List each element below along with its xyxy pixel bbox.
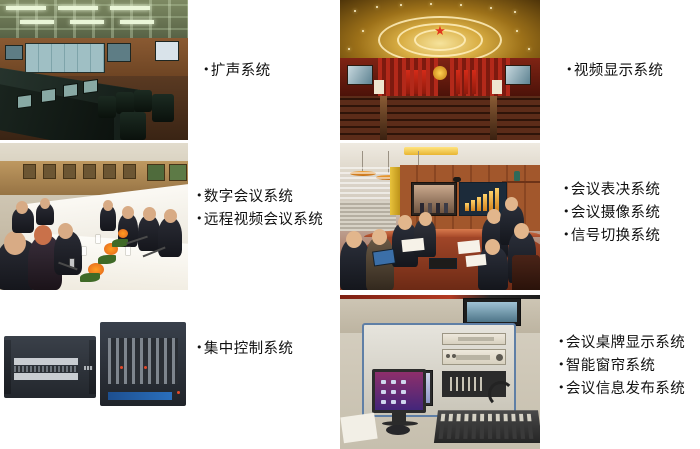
caption-line: 会议表决系统 xyxy=(563,178,660,201)
mouse[interactable] xyxy=(386,425,410,435)
caption-line: 智能窗帘系统 xyxy=(558,354,685,377)
paper-documents xyxy=(340,413,377,443)
ceiling-light-rings: ★ xyxy=(340,0,540,62)
audio-mixing-console[interactable] xyxy=(434,410,540,443)
video-wall-screen xyxy=(26,44,104,72)
slide-canvas: ★ xyxy=(0,0,700,449)
image-matrix-switcher-hardware xyxy=(0,300,188,410)
caption-video-display: 视频显示系统 xyxy=(566,59,663,82)
star-emblem: ★ xyxy=(434,24,446,39)
caption-central-control: 集中控制系统 xyxy=(196,337,293,360)
wall-monitor xyxy=(108,44,130,61)
data-presentation-display xyxy=(460,183,506,215)
wall-monitor xyxy=(6,46,22,59)
caption-table-nameplate-curtain-info: 会议桌牌显示系统 智能窗帘系统 会议信息发布系统 xyxy=(558,331,685,400)
caption-digital-conference: 数字会议系统 远程视频会议系统 xyxy=(196,185,323,231)
caption-line: 视频显示系统 xyxy=(566,59,663,82)
touch-panel-controller[interactable] xyxy=(372,369,426,413)
wall-mounted-tv xyxy=(464,299,520,325)
caption-line: 集中控制系统 xyxy=(196,337,293,360)
caption-line: 远程视频会议系统 xyxy=(196,208,323,231)
image-av-control-console xyxy=(340,295,540,449)
window-blind xyxy=(340,201,396,231)
caption-line: 扩声系统 xyxy=(203,59,271,82)
caption-line: 会议信息发布系统 xyxy=(558,377,685,400)
side-projection-screen xyxy=(506,66,530,84)
central-control-host xyxy=(4,336,96,398)
caption-line: 会议桌牌显示系统 xyxy=(558,331,685,354)
cove-light xyxy=(404,147,458,155)
caption-line: 会议摄像系统 xyxy=(563,201,660,224)
image-long-conference-table xyxy=(0,143,188,290)
image-grand-auditorium: ★ xyxy=(340,0,540,140)
caption-line: 信号切换系统 xyxy=(563,224,660,247)
caption-line: 数字会议系统 xyxy=(196,185,323,208)
audience-seating xyxy=(340,96,540,140)
ceiling xyxy=(0,0,188,40)
far-end-video-display xyxy=(412,183,456,215)
national-emblem xyxy=(433,66,447,80)
window xyxy=(156,42,178,60)
conference-camera xyxy=(453,177,461,182)
image-boardroom-videoconference xyxy=(340,143,540,290)
caption-voting-camera-switching: 会议表决系统 会议摄像系统 信号切换系统 xyxy=(563,178,660,247)
matrix-switcher xyxy=(100,322,186,406)
image-control-room-video-wall xyxy=(0,0,188,140)
side-projection-screen xyxy=(348,66,372,84)
headphones xyxy=(488,381,514,407)
caption-sound-reinforcement: 扩声系统 xyxy=(203,59,271,82)
